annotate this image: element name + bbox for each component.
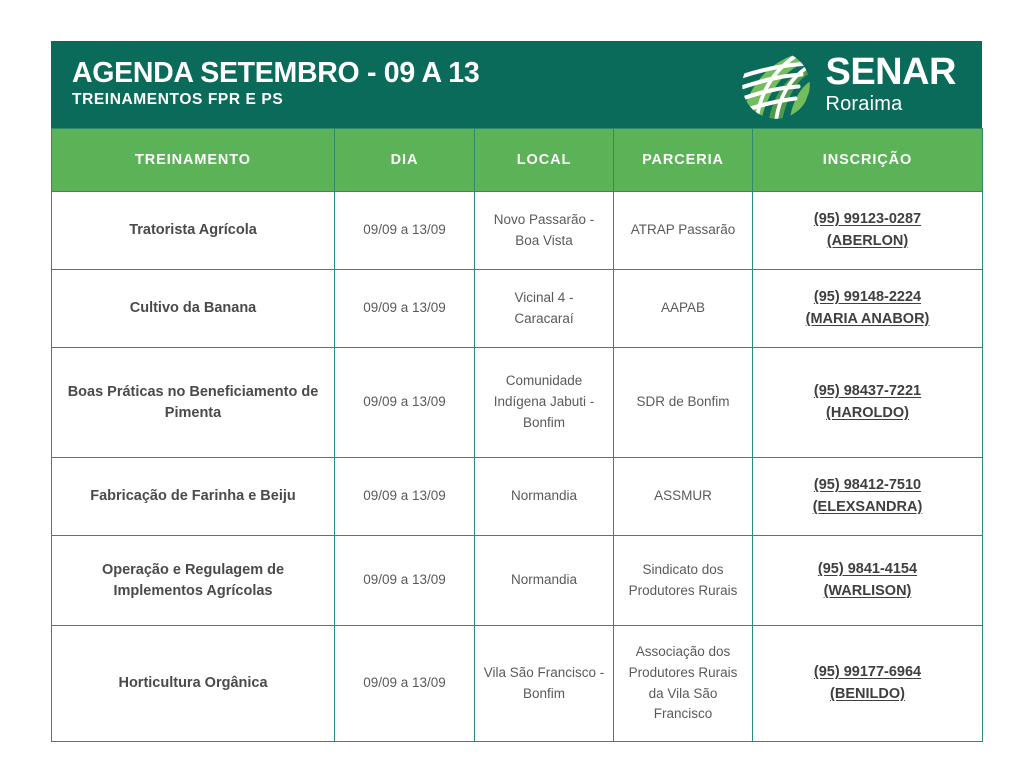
page-subtitle: TREINAMENTOS FPR E PS (72, 90, 479, 111)
page-title: AGENDA SETEMBRO - 09 A 13 (72, 58, 479, 90)
contact-person-name[interactable]: (BENILDO) (761, 684, 974, 705)
table-row: Operação e Regulagem de Implementos Agrí… (52, 536, 983, 626)
cell-treinamento: Operação e Regulagem de Implementos Agrí… (52, 536, 335, 626)
cell-dia: 09/09 a 13/09 (335, 626, 475, 742)
cell-local: Novo Passarão - Boa Vista (475, 192, 614, 270)
contact-person-name[interactable]: (ABERLON) (761, 231, 974, 252)
cell-treinamento: Cultivo da Banana (52, 270, 335, 348)
cell-dia: 09/09 a 13/09 (335, 270, 475, 348)
cell-parceria: ATRAP Passarão (614, 192, 753, 270)
cell-dia: 09/09 a 13/09 (335, 348, 475, 458)
cell-inscricao[interactable]: (95) 98412-7510 (ELEXSANDRA) (753, 458, 983, 536)
banner-title-group: AGENDA SETEMBRO - 09 A 13 TREINAMENTOS F… (72, 58, 479, 112)
contact-phone-link[interactable]: (95) 99148-2224 (761, 287, 974, 308)
table-header: TREINAMENTO DIA LOCAL PARCERIA INSCRIÇÃO (52, 129, 983, 192)
contact-phone-link[interactable]: (95) 9841-4154 (761, 559, 974, 580)
cell-inscricao[interactable]: (95) 9841-4154 (WARLISON) (753, 536, 983, 626)
cell-local: Normandia (475, 458, 614, 536)
table-row: Fabricação de Farinha e Beiju 09/09 a 13… (52, 458, 983, 536)
contact-phone-link[interactable]: (95) 99177-6964 (761, 662, 974, 683)
table-header-row: TREINAMENTO DIA LOCAL PARCERIA INSCRIÇÃO (52, 129, 983, 192)
column-header-local: LOCAL (475, 129, 614, 192)
table-body: Tratorista Agrícola 09/09 a 13/09 Novo P… (52, 192, 983, 742)
logo-region-text: Roraima (825, 93, 956, 116)
cell-treinamento: Tratorista Agrícola (52, 192, 335, 270)
contact-person-name[interactable]: (MARIA ANABOR) (761, 309, 974, 330)
cell-parceria: Sindicato dos Produtores Rurais (614, 536, 753, 626)
cell-inscricao[interactable]: (95) 99123-0287 (ABERLON) (753, 192, 983, 270)
cell-treinamento: Fabricação de Farinha e Beiju (52, 458, 335, 536)
senar-logo: SENAR Roraima (738, 49, 956, 121)
logo-brand-text: SENAR (825, 53, 956, 91)
cell-parceria: SDR de Bonfim (614, 348, 753, 458)
agenda-table: TREINAMENTO DIA LOCAL PARCERIA INSCRIÇÃO… (51, 128, 983, 742)
cell-inscricao[interactable]: (95) 99148-2224 (MARIA ANABOR) (753, 270, 983, 348)
cell-inscricao[interactable]: (95) 99177-6964 (BENILDO) (753, 626, 983, 742)
cell-dia: 09/09 a 13/09 (335, 536, 475, 626)
table-row: Tratorista Agrícola 09/09 a 13/09 Novo P… (52, 192, 983, 270)
cell-local: Normandia (475, 536, 614, 626)
column-header-treinamento: TREINAMENTO (52, 129, 335, 192)
contact-phone-link[interactable]: (95) 98437-7221 (761, 381, 974, 402)
contact-person-name[interactable]: (WARLISON) (761, 581, 974, 602)
cell-local: Vicinal 4 - Caracaraí (475, 270, 614, 348)
column-header-dia: DIA (335, 129, 475, 192)
cell-parceria: ASSMUR (614, 458, 753, 536)
cell-local: Vila São Francisco - Bonfim (475, 626, 614, 742)
table-row: Cultivo da Banana 09/09 a 13/09 Vicinal … (52, 270, 983, 348)
cell-parceria: Associação dos Produtores Rurais da Vila… (614, 626, 753, 742)
logo-wordmark: SENAR Roraima (825, 53, 956, 116)
cell-dia: 09/09 a 13/09 (335, 458, 475, 536)
cell-treinamento: Boas Práticas no Beneficiamento de Pimen… (52, 348, 335, 458)
table-row: Boas Práticas no Beneficiamento de Pimen… (52, 348, 983, 458)
contact-phone-link[interactable]: (95) 99123-0287 (761, 209, 974, 230)
column-header-parceria: PARCERIA (614, 129, 753, 192)
contact-person-name[interactable]: (ELEXSANDRA) (761, 497, 974, 518)
cell-inscricao[interactable]: (95) 98437-7221 (HAROLDO) (753, 348, 983, 458)
cell-dia: 09/09 a 13/09 (335, 192, 475, 270)
contact-person-name[interactable]: (HAROLDO) (761, 403, 974, 424)
cell-treinamento: Horticultura Orgânica (52, 626, 335, 742)
cell-local: Comunidade Indígena Jabuti - Bonfim (475, 348, 614, 458)
poster-header-banner: AGENDA SETEMBRO - 09 A 13 TREINAMENTOS F… (51, 41, 982, 128)
senar-leaf-emblem-icon (738, 49, 814, 121)
agenda-poster: AGENDA SETEMBRO - 09 A 13 TREINAMENTOS F… (0, 0, 1024, 768)
contact-phone-link[interactable]: (95) 98412-7510 (761, 475, 974, 496)
table-row: Horticultura Orgânica 09/09 a 13/09 Vila… (52, 626, 983, 742)
column-header-inscricao: INSCRIÇÃO (753, 129, 983, 192)
cell-parceria: AAPAB (614, 270, 753, 348)
